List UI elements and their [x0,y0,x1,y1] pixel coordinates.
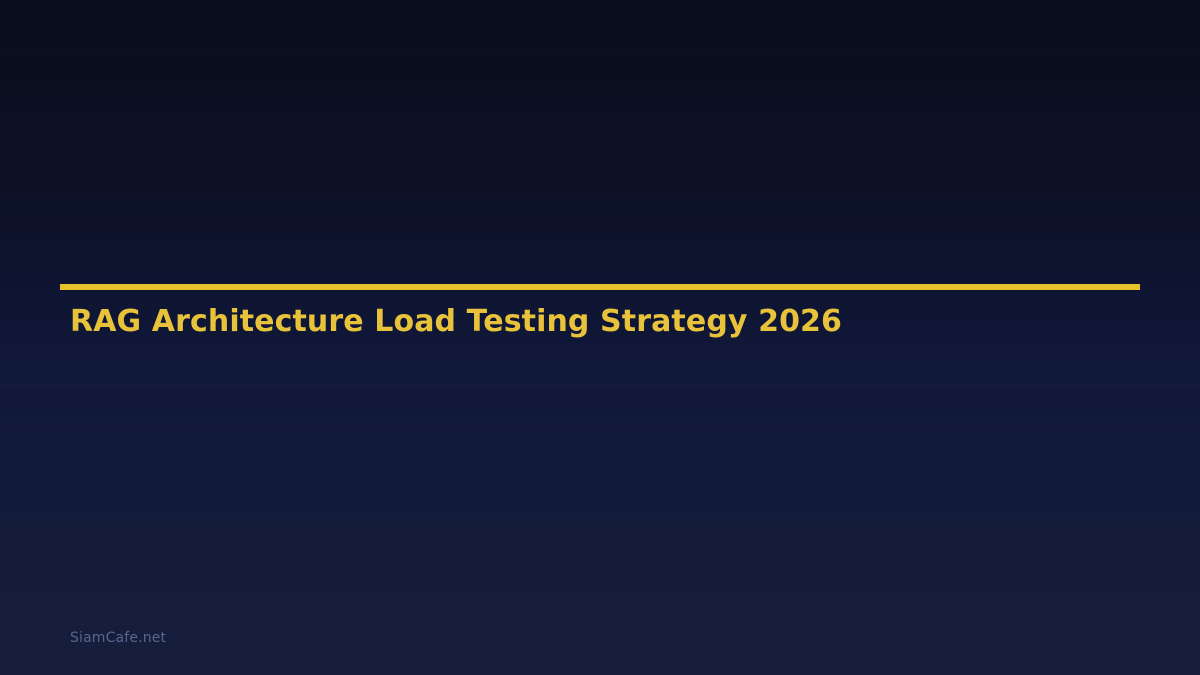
title-block: RAG Architecture Load Testing Strategy 2… [60,284,1140,340]
page-title: RAG Architecture Load Testing Strategy 2… [60,290,1140,340]
footer-branding: SiamCafe.net [70,630,166,646]
title-slide: RAG Architecture Load Testing Strategy 2… [0,0,1200,675]
